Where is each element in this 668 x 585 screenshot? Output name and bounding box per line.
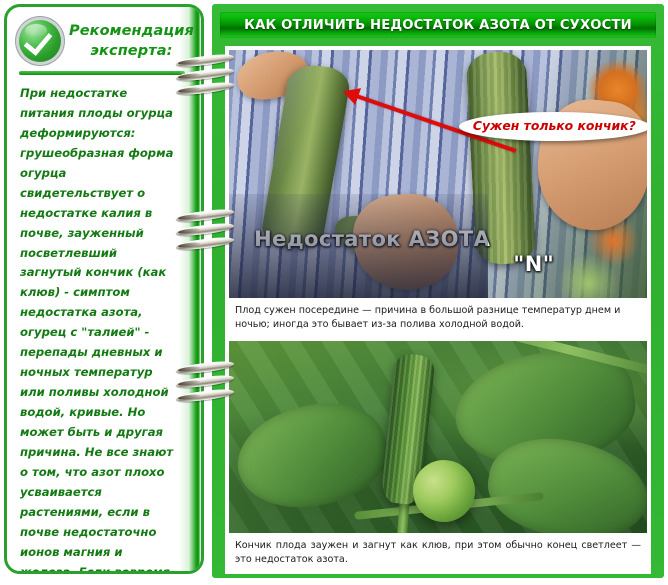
expert-title-line2: эксперта: — [90, 43, 172, 59]
figure-top-caption: Плод сужен посередине — причина в большо… — [229, 298, 647, 339]
spiral-binding-group-bottom — [176, 363, 234, 405]
expert-title: Рекомендация эксперта: — [69, 17, 194, 61]
spiral-ring — [176, 221, 234, 237]
panel-title: КАК ОТЛИЧИТЬ НЕДОСТАТОК АЗОТА ОТ СУХОСТИ — [244, 18, 632, 33]
spiral-ring — [176, 387, 234, 403]
expert-title-line1: Рекомендация — [69, 23, 194, 39]
spiral-ring — [176, 80, 234, 96]
spiral-binding-group-middle — [176, 211, 234, 253]
poster-root: Рекомендация эксперта: При недостатке пи… — [0, 0, 668, 585]
cucumber-right-normal — [466, 51, 537, 266]
spiral-ring — [176, 373, 234, 389]
expert-body-text: При недостатке питания плоды огурца дефо… — [7, 75, 201, 574]
panel-title-bar: КАК ОТЛИЧИТЬ НЕДОСТАТОК АЗОТА ОТ СУХОСТИ — [220, 12, 656, 38]
figure-bottom-caption: Кончик плода заужен и загнут как клюв, п… — [229, 533, 647, 574]
figure-top: Сужен только кончик? Недостаток АЗОТА "N… — [225, 46, 651, 339]
callout-text: Сужен только кончик? — [473, 118, 636, 133]
green-check-badge-icon — [19, 20, 61, 62]
expert-recommendation-card: Рекомендация эксперта: При недостатке пи… — [4, 4, 204, 574]
spiral-ring — [176, 66, 234, 82]
content-panel: КАК ОТЛИЧИТЬ НЕДОСТАТОК АЗОТА ОТ СУХОСТИ… — [212, 4, 664, 578]
photo-hands-holding-cucumbers: Сужен только кончик? Недостаток АЗОТА "N… — [229, 50, 647, 298]
photo-cucumber-on-vine — [229, 341, 647, 533]
spiral-ring — [176, 235, 234, 251]
spiral-binding-group-top — [176, 56, 234, 98]
figure-bottom: Кончик плода заужен и загнут как клюв, п… — [225, 337, 651, 574]
expert-header: Рекомендация эксперта: — [7, 7, 201, 62]
callout-bubble: Сужен только кончик? — [459, 112, 647, 141]
leaf-left — [229, 390, 397, 523]
hand-lower-left — [350, 189, 463, 295]
